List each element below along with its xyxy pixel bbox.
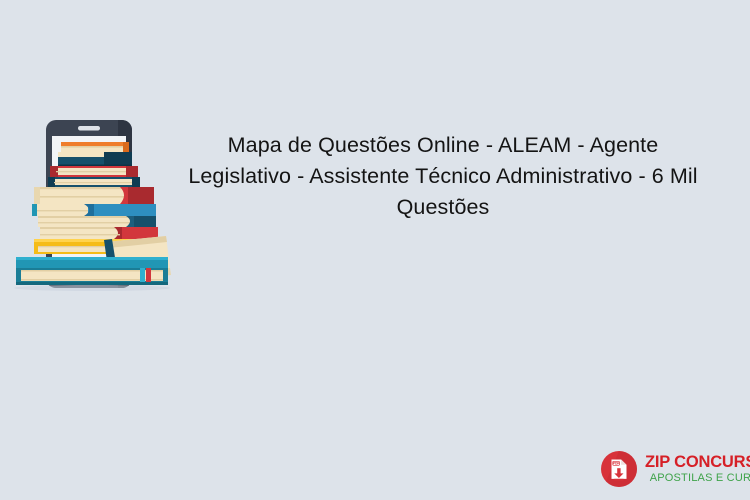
svg-text:PDF: PDF (613, 462, 620, 466)
promo-banner: Mapa de Questões Online - ALEAM - Agente… (0, 0, 750, 500)
page-title: Mapa de Questões Online - ALEAM - Agente… (183, 130, 703, 223)
book-orange-top (61, 142, 129, 152)
book-red-lower (40, 227, 158, 239)
brand-logo[interactable]: PDF ZIP CONCURSOS APOSTILAS E CURSOS (600, 449, 744, 489)
books-and-tablet-illustration (8, 118, 183, 313)
pdf-download-icon: PDF (600, 450, 638, 488)
brand-wordmark: ZIP CONCURSOS APOSTILAS E CURSOS (645, 454, 750, 485)
book-red-upper (50, 166, 138, 177)
brand-name: ZIP CONCURSOS (645, 454, 750, 471)
brand-tagline: APOSTILAS E CURSOS (650, 473, 750, 484)
book-navy-mid (48, 177, 140, 187)
book-teal-bottom (16, 257, 168, 285)
book-blue-mid (32, 204, 156, 216)
page-title-text: Mapa de Questões Online - ALEAM - Agente… (183, 130, 703, 223)
stack-shadow (14, 285, 170, 291)
book-navy-upper (58, 152, 132, 166)
book-cream-big (34, 187, 154, 204)
book-cream-second (38, 216, 156, 227)
